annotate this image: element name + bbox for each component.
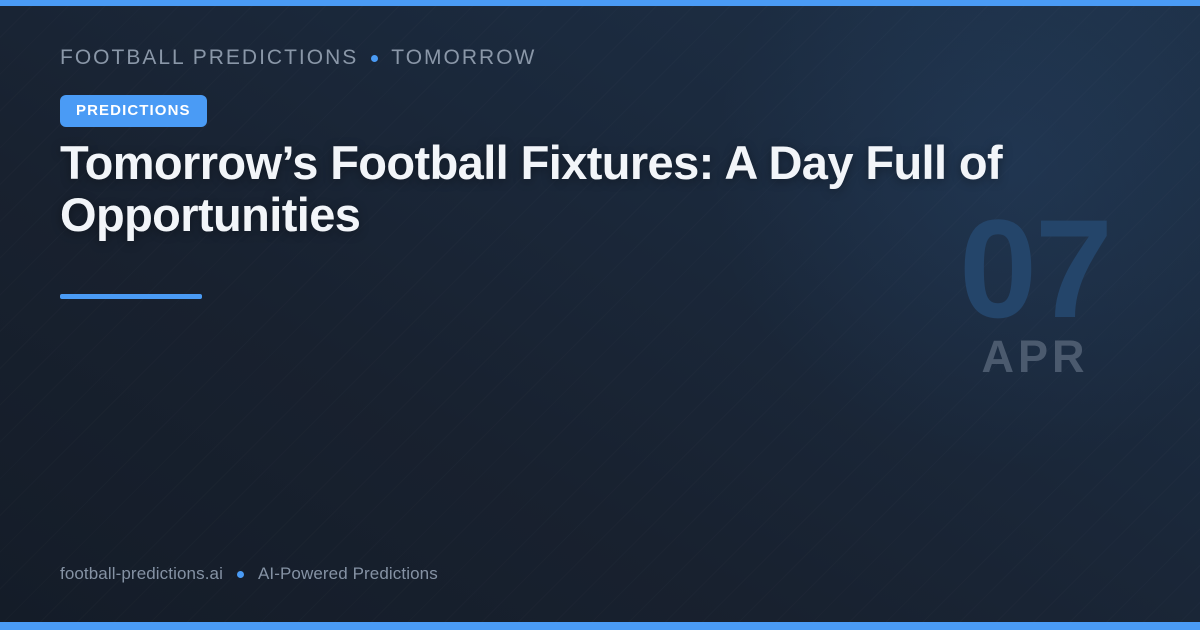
date-day-number: 07 — [930, 210, 1140, 328]
date-stamp: 07 APR — [930, 210, 1140, 380]
kicker-secondary-label: TOMORROW — [391, 46, 536, 70]
site-name-label: football-predictions.ai — [60, 564, 223, 584]
kicker-primary-label: FOOTBALL PREDICTIONS — [60, 46, 358, 70]
title-underline-accent — [60, 294, 202, 299]
tagline-label: AI-Powered Predictions — [258, 564, 438, 584]
card-content: FOOTBALL PREDICTIONS TOMORROW PREDICTION… — [60, 0, 1140, 630]
page-title: Tomorrow’s Football Fixtures: A Day Full… — [60, 137, 1020, 241]
footer-line: football-predictions.ai AI-Powered Predi… — [60, 564, 438, 584]
kicker-line: FOOTBALL PREDICTIONS TOMORROW — [60, 46, 536, 70]
category-badge: PREDICTIONS — [60, 95, 207, 127]
bullet-dot-icon — [371, 55, 378, 62]
social-share-card: FOOTBALL PREDICTIONS TOMORROW PREDICTION… — [0, 0, 1200, 630]
bullet-dot-icon — [237, 571, 244, 578]
